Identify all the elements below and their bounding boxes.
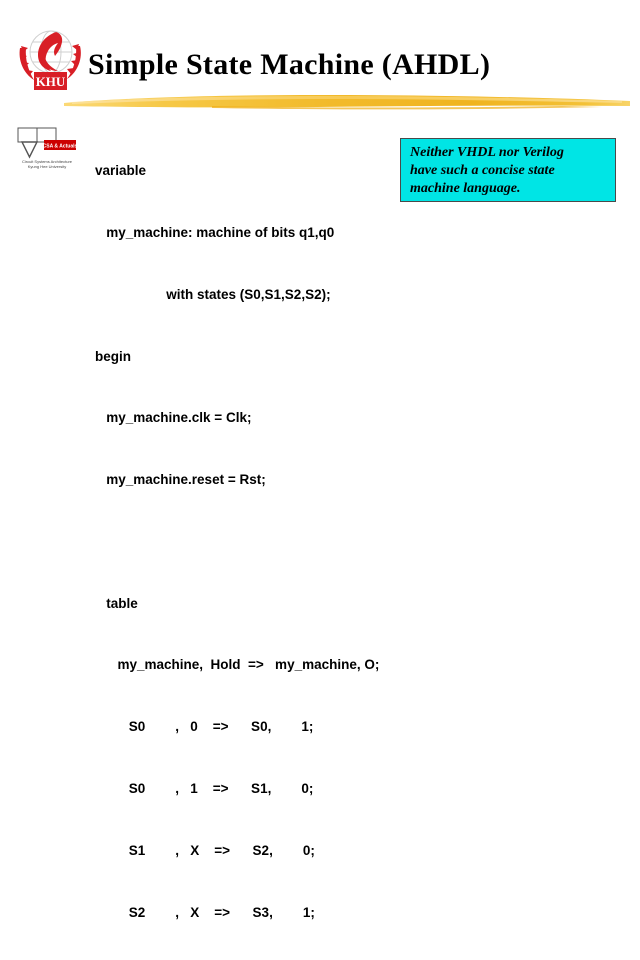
code-line: S2 , X => S3, 1; [95,903,379,924]
code-line: my_machine: machine of bits q1,q0 [95,223,379,244]
code-line: S0 , 1 => S1, 0; [95,779,379,800]
code-line: table [95,594,379,615]
code-line: my_machine.reset = Rst; [95,470,379,491]
code-line: begin [95,347,379,368]
code-line: S1 , X => S2, 0; [95,841,379,862]
code-line: S0 , 0 => S0, 1; [95,717,379,738]
lab-logo-caption-line2: Kyung Hee University [28,164,66,169]
lab-logo-badge-text: CSA & Actuals [43,144,78,150]
callout-line: machine language. [410,180,615,198]
code-line: my_machine.clk = Clk; [95,408,379,429]
khu-university-logo: KHU [14,26,86,92]
ahdl-code-block: variable my_machine: machine of bits q1,… [95,120,379,960]
slide-title: Simple State Machine (AHDL) [88,48,490,82]
code-line-blank [95,532,379,553]
title-underline-brush-stroke [62,90,632,114]
callout-note-box: Neither VHDL nor Verilog have such a con… [400,138,616,202]
lab-secondary-logo: CSA & Actuals Circuit Systems Architectu… [16,126,78,172]
code-line: my_machine, Hold => my_machine, O; [95,655,379,676]
khu-logo-wordmark: KHU [36,74,66,89]
code-line: variable [95,161,379,182]
code-line: with states (S0,S1,S2,S2); [95,285,379,306]
callout-line: have such a concise state [410,162,615,180]
callout-line: Neither VHDL nor Verilog [410,144,615,162]
